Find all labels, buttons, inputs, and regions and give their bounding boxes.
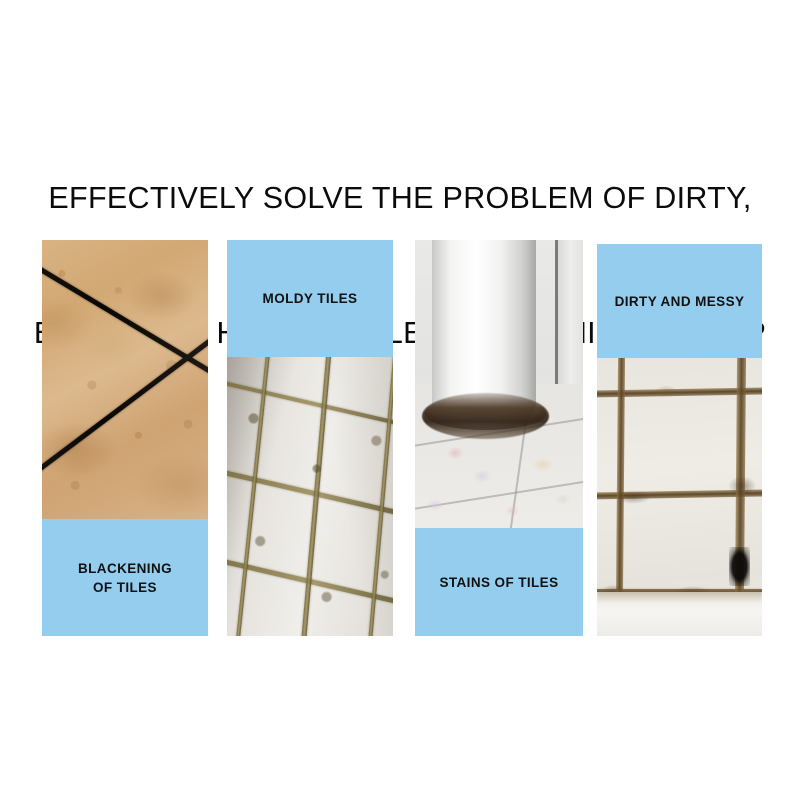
problem-panel-blackening: BLACKENING OF TILES xyxy=(42,240,208,636)
black-mold-patch xyxy=(729,547,750,586)
mold-spots-texture xyxy=(227,357,393,636)
problem-panel-stains: STAINS OF TILES xyxy=(415,240,583,636)
photo-stained-pedestal-base xyxy=(415,240,583,528)
photo-dirty-tile-grid xyxy=(597,358,762,636)
panel-caption-blackening: BLACKENING OF TILES xyxy=(42,519,208,636)
panel-caption-moldy: MOLDY TILES xyxy=(227,240,393,357)
panel-caption-text: BLACKENING OF TILES xyxy=(78,559,172,597)
product-marketing-poster: EFFECTIVELY SOLVE THE PROBLEM OF DIRTY, … xyxy=(0,0,800,800)
grime-ring-shadow xyxy=(425,398,546,430)
tan-travertine-tile-surface xyxy=(42,240,208,519)
panel-caption-text: STAINS OF TILES xyxy=(439,573,558,592)
problem-panel-moldy: MOLDY TILES xyxy=(227,240,393,636)
photo-blackened-tile-grout xyxy=(42,240,208,519)
panel-caption-dirty-messy: DIRTY AND MESSY xyxy=(597,244,762,358)
headline-line-1: EFFECTIVELY SOLVE THE PROBLEM OF DIRTY, xyxy=(0,176,800,221)
tub-edge-stain xyxy=(597,589,762,603)
panel-caption-text: MOLDY TILES xyxy=(263,289,358,308)
panel-caption-text: DIRTY AND MESSY xyxy=(615,292,745,311)
panel-caption-stains: STAINS OF TILES xyxy=(415,528,583,636)
bathroom-floor-scene xyxy=(415,240,583,528)
problem-panel-dirty-messy: DIRTY AND MESSY xyxy=(597,244,762,636)
white-square-tile-surface xyxy=(597,358,762,636)
photo-moldy-tile-grout xyxy=(227,357,393,636)
white-wall-tile-surface xyxy=(227,357,393,636)
